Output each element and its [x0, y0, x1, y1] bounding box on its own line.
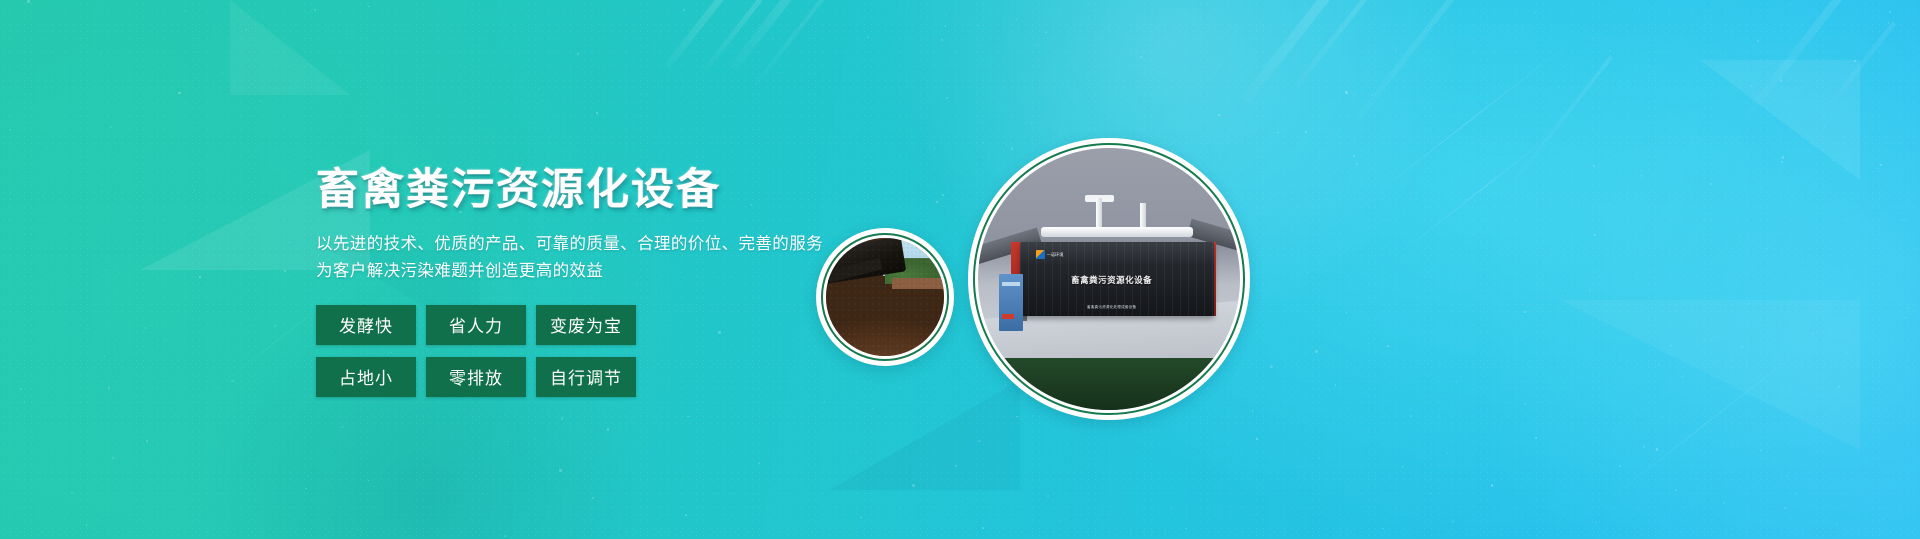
particle-dot — [1031, 123, 1032, 124]
particle-dot — [778, 72, 779, 73]
particle-dot — [178, 92, 181, 95]
particle-dot — [1559, 86, 1560, 87]
particle-dot — [1170, 507, 1172, 509]
particle-dot — [1654, 224, 1655, 225]
particle-dot — [658, 86, 659, 87]
banner-headline: 畜禽粪污资源化设备 — [316, 166, 876, 214]
particle-dot — [1639, 9, 1640, 10]
particle-dot — [199, 276, 200, 277]
particle-dot — [1335, 384, 1337, 386]
particle-dot — [1140, 56, 1142, 58]
particle-dot — [1675, 489, 1677, 491]
particle-dot — [1368, 343, 1369, 344]
feature-tag-self-adjusting[interactable]: 自行调节 — [536, 357, 636, 397]
particle-dot — [1749, 303, 1750, 304]
particle-dot — [1305, 352, 1306, 353]
particle-dot — [1760, 188, 1761, 189]
particle-dot — [559, 469, 562, 472]
particle-dot — [288, 242, 289, 243]
particle-dot — [1475, 241, 1476, 242]
compost-pile-image — [826, 238, 944, 356]
particle-dot — [1619, 465, 1621, 467]
particle-dot — [1593, 165, 1596, 168]
particle-dot — [592, 497, 594, 499]
particle-dot — [368, 480, 369, 481]
particle-dot — [1757, 40, 1759, 42]
particle-dot — [1343, 172, 1344, 173]
particle-dot — [535, 439, 536, 440]
particle-dot — [1589, 289, 1591, 291]
promo-banner: 畜禽粪污资源化设备 以先进的技术、优质的产品、可靠的质量、合理的价位、完善的服务… — [0, 0, 1920, 539]
particle-dot — [194, 190, 196, 192]
particle-dot — [1838, 386, 1840, 388]
particle-dot — [1640, 174, 1643, 177]
particle-dot — [1476, 448, 1477, 449]
pipe-header — [1041, 227, 1193, 237]
particle-dot — [685, 514, 687, 516]
particle-dot — [1398, 450, 1400, 452]
particle-dot — [1868, 314, 1870, 316]
equipment-render-circle[interactable]: 一诺环境 畜禽粪污资源化设备 畜禽粪污资源化处理成套设备 — [968, 138, 1250, 420]
particle-dot — [114, 348, 115, 349]
particle-dot — [1315, 350, 1318, 353]
particle-dot — [329, 449, 330, 450]
particle-dot — [1741, 346, 1743, 348]
particle-dot — [1846, 265, 1848, 267]
particle-dot — [1594, 234, 1597, 237]
equipment-body-sublabel: 畜禽粪污资源化处理成套设备 — [1046, 305, 1177, 310]
particle-dot — [231, 380, 234, 383]
particle-dot — [184, 10, 185, 11]
particle-dot — [1371, 95, 1372, 96]
particle-dot — [1318, 457, 1319, 458]
particle-dot — [1430, 493, 1431, 494]
particle-dot — [962, 469, 963, 470]
particle-dot — [1904, 317, 1905, 318]
particle-dot — [357, 529, 358, 530]
particle-dot — [1353, 93, 1355, 95]
particle-dot — [1185, 528, 1187, 530]
particle-dot — [1796, 493, 1797, 494]
particle-dot — [71, 492, 73, 494]
particle-dot — [46, 147, 47, 148]
particle-dot — [1781, 161, 1783, 163]
particle-dot — [1307, 272, 1308, 273]
particle-dot — [955, 465, 957, 467]
particle-dot — [1270, 365, 1272, 367]
particle-dot — [978, 440, 980, 442]
particle-dot — [912, 484, 914, 486]
particle-dot — [27, 0, 30, 3]
particle-dot — [1760, 449, 1762, 451]
particle-dot — [146, 440, 148, 442]
particle-dot — [1016, 416, 1018, 418]
particle-dot — [1536, 201, 1537, 202]
particle-dot — [1765, 248, 1768, 251]
particle-dot — [274, 325, 276, 327]
particle-dot — [1200, 14, 1202, 16]
wall-region — [892, 278, 944, 289]
background-particles — [0, 0, 1920, 539]
particle-dot — [86, 524, 88, 526]
banner-text-block: 畜禽粪污资源化设备 以先进的技术、优质的产品、可靠的质量、合理的价位、完善的服务… — [316, 166, 876, 397]
particle-dot — [100, 53, 102, 55]
turner-machine — [826, 238, 906, 285]
particle-dot — [946, 97, 948, 99]
feature-tag-zero-emission[interactable]: 零排放 — [426, 357, 526, 397]
particle-dot — [982, 527, 984, 529]
particle-dot — [1824, 126, 1825, 127]
particle-dot — [867, 36, 869, 38]
particle-dot — [1613, 431, 1614, 432]
particle-dot — [104, 356, 105, 357]
feature-tag-list: 发酵快 省人力 变废为宝 占地小 零排放 自行调节 — [316, 305, 646, 397]
particle-dot — [1353, 155, 1355, 157]
particle-dot — [1832, 160, 1834, 162]
particle-dot — [1908, 308, 1910, 310]
particle-dot — [1329, 198, 1330, 199]
particle-dot — [1383, 528, 1384, 529]
particle-dot — [1277, 132, 1278, 133]
particle-dot — [1790, 4, 1792, 6]
particle-dot — [1889, 11, 1891, 13]
equipment-body-label: 畜禽粪污资源化设备 — [1036, 274, 1188, 286]
particle-dot — [1456, 382, 1457, 383]
particle-dot — [758, 462, 760, 464]
particle-dot — [87, 328, 89, 330]
particle-dot — [1299, 50, 1300, 51]
particle-dot — [1762, 468, 1764, 470]
particle-dot — [1037, 44, 1039, 46]
particle-dot — [855, 452, 857, 454]
particle-dot — [1562, 295, 1563, 296]
particle-dot — [305, 488, 307, 490]
particle-dot — [1474, 200, 1476, 202]
control-panel-button — [1002, 314, 1014, 319]
particle-dot — [942, 194, 944, 196]
particle-dot — [1812, 333, 1814, 335]
particle-dot — [1880, 164, 1882, 166]
particle-dot — [108, 387, 110, 389]
particle-dot — [1535, 437, 1537, 439]
feature-tag-fermentation-fast[interactable]: 发酵快 — [316, 305, 416, 345]
particle-dot — [561, 417, 563, 419]
particle-dot — [314, 9, 316, 11]
particle-dot — [1705, 195, 1707, 197]
brand-name: 一诺环境 — [1047, 252, 1064, 258]
particle-dot — [1836, 524, 1837, 525]
particle-dot — [1402, 466, 1404, 468]
particle-dot — [1883, 518, 1885, 520]
particle-dot — [1784, 507, 1786, 509]
particle-dot — [10, 199, 11, 200]
particle-dot — [977, 416, 978, 417]
particle-dot — [978, 25, 979, 26]
particle-dot — [1461, 140, 1462, 141]
particle-dot — [105, 270, 106, 271]
particle-dot — [145, 327, 147, 329]
particle-dot — [222, 72, 224, 74]
particle-dot — [341, 426, 344, 429]
particle-dot — [782, 4, 783, 5]
particle-dot — [1902, 208, 1903, 209]
feature-tag-labor-saving[interactable]: 省人力 — [426, 305, 526, 345]
particle-dot — [538, 88, 540, 90]
particle-dot — [941, 39, 943, 41]
particle-dot — [1609, 50, 1611, 52]
particle-dot — [945, 25, 946, 26]
particle-dot — [1596, 522, 1598, 524]
particle-dot — [62, 451, 63, 452]
particle-dot — [1656, 448, 1659, 451]
turner-machine-arm — [828, 258, 884, 283]
particle-dot — [1218, 114, 1220, 116]
particle-dot — [1090, 50, 1091, 51]
particle-dot — [1301, 517, 1302, 518]
particle-dot — [504, 535, 506, 537]
particle-dot — [1876, 168, 1877, 169]
particle-dot — [607, 428, 609, 430]
particle-dot — [62, 13, 63, 14]
particle-dot — [1535, 12, 1536, 13]
particle-dot — [1252, 410, 1253, 411]
particle-dot — [101, 190, 103, 192]
particle-dot — [1058, 520, 1059, 521]
compost-photo — [826, 238, 944, 356]
particle-dot — [112, 457, 114, 459]
particle-dot — [1846, 352, 1847, 353]
particle-dot — [1903, 220, 1904, 221]
particle-dot — [468, 23, 469, 24]
particle-dot — [482, 493, 483, 494]
particle-dot — [1780, 79, 1782, 81]
particle-dot — [32, 436, 33, 437]
particle-dot — [10, 129, 11, 130]
banner-subtitle-line-2: 为客户解决污染难题并创造更高的效益 — [316, 258, 876, 285]
particle-dot — [1524, 403, 1527, 406]
particle-dot — [1114, 90, 1115, 91]
particle-dot — [1498, 429, 1499, 430]
particle-dot — [1387, 345, 1389, 347]
brand-logo: 一诺环境 — [1036, 250, 1064, 259]
particle-dot — [860, 516, 863, 519]
particle-dot — [1888, 22, 1889, 23]
particle-dot — [934, 147, 935, 148]
particle-dot — [1345, 91, 1348, 94]
scene-grass — [978, 358, 1240, 410]
sky-region — [883, 240, 944, 275]
particle-dot — [967, 498, 968, 499]
particle-dot — [346, 34, 347, 35]
particle-dot — [1301, 466, 1302, 467]
control-panel-display — [1002, 282, 1020, 287]
particle-dot — [1491, 484, 1494, 487]
particle-dot — [1782, 156, 1785, 159]
feature-tag-waste-to-treasure[interactable]: 变废为宝 — [536, 305, 636, 345]
particle-dot — [1348, 116, 1349, 117]
equipment-photo: 一诺环境 畜禽粪污资源化设备 畜禽粪污资源化处理成套设备 — [978, 148, 1240, 410]
particle-dot — [1774, 307, 1775, 308]
particle-dot — [1011, 443, 1012, 444]
particle-dot — [1658, 364, 1660, 366]
particle-dot — [190, 120, 191, 121]
particle-dot — [1016, 19, 1017, 20]
particle-dot — [1682, 376, 1684, 378]
particle-dot — [1643, 446, 1645, 448]
tree-line — [885, 258, 944, 284]
particle-dot — [1670, 345, 1672, 347]
particle-dot — [872, 408, 874, 410]
particle-dot — [1447, 453, 1448, 454]
particle-dot — [728, 115, 729, 116]
particle-dot — [259, 100, 261, 102]
particle-dot — [1356, 163, 1357, 164]
particle-dot — [577, 53, 579, 55]
particle-dot — [683, 9, 685, 11]
particle-dot — [898, 81, 899, 82]
particle-dot — [24, 401, 25, 402]
particle-dot — [1661, 416, 1663, 418]
particle-dot — [1305, 131, 1307, 133]
particle-dot — [1410, 415, 1413, 418]
particle-dot — [508, 441, 509, 442]
particle-dot — [687, 416, 688, 417]
particle-dot — [166, 340, 167, 341]
particle-dot — [824, 401, 826, 403]
control-cabinet — [999, 274, 1023, 332]
particle-dot — [1452, 520, 1454, 522]
particle-dot — [946, 14, 947, 15]
equipment-3d-scene: 一诺环境 畜禽粪污资源化设备 畜禽粪污资源化处理成套设备 — [978, 148, 1240, 410]
particle-dot — [1047, 495, 1050, 498]
particle-dot — [1291, 279, 1292, 280]
particle-dot — [1854, 60, 1856, 62]
particle-dot — [1714, 288, 1715, 289]
particle-dot — [238, 20, 239, 21]
particle-dot — [1524, 311, 1526, 313]
particle-dot — [982, 142, 984, 144]
particle-dot — [1045, 32, 1047, 34]
particle-dot — [1395, 49, 1397, 51]
banner-subtitle-line-1: 以先进的技术、优质的产品、可靠的质量、合理的价位、完善的服务 — [316, 231, 876, 258]
particle-dot — [1916, 249, 1917, 250]
particle-dot — [815, 495, 816, 496]
particle-dot — [1846, 221, 1847, 222]
particle-dot — [1723, 502, 1725, 504]
particle-dot — [110, 126, 113, 129]
particle-dot — [596, 112, 598, 114]
particle-dot — [1750, 85, 1752, 87]
feature-tag-small-footprint[interactable]: 占地小 — [316, 357, 416, 397]
particle-dot — [245, 161, 246, 162]
particle-dot — [1256, 438, 1258, 440]
particle-dot — [1346, 312, 1347, 313]
particle-dot — [1107, 515, 1108, 516]
particle-dot — [772, 38, 774, 40]
particle-dot — [284, 270, 286, 272]
particle-dot — [20, 388, 22, 390]
particle-dot — [245, 29, 247, 31]
brand-mark-icon — [1036, 250, 1045, 259]
particle-dot — [1786, 475, 1787, 476]
particle-dot — [1486, 103, 1487, 104]
particle-dot — [1710, 183, 1712, 185]
particle-dot — [368, 6, 370, 8]
particle-dot — [1673, 377, 1674, 378]
particle-dot — [1465, 434, 1466, 435]
particle-dot — [1739, 236, 1740, 237]
compost-photo-circle[interactable] — [816, 228, 954, 366]
particle-dot — [936, 201, 938, 203]
particle-dot — [1006, 144, 1007, 145]
particle-dot — [1439, 417, 1441, 419]
